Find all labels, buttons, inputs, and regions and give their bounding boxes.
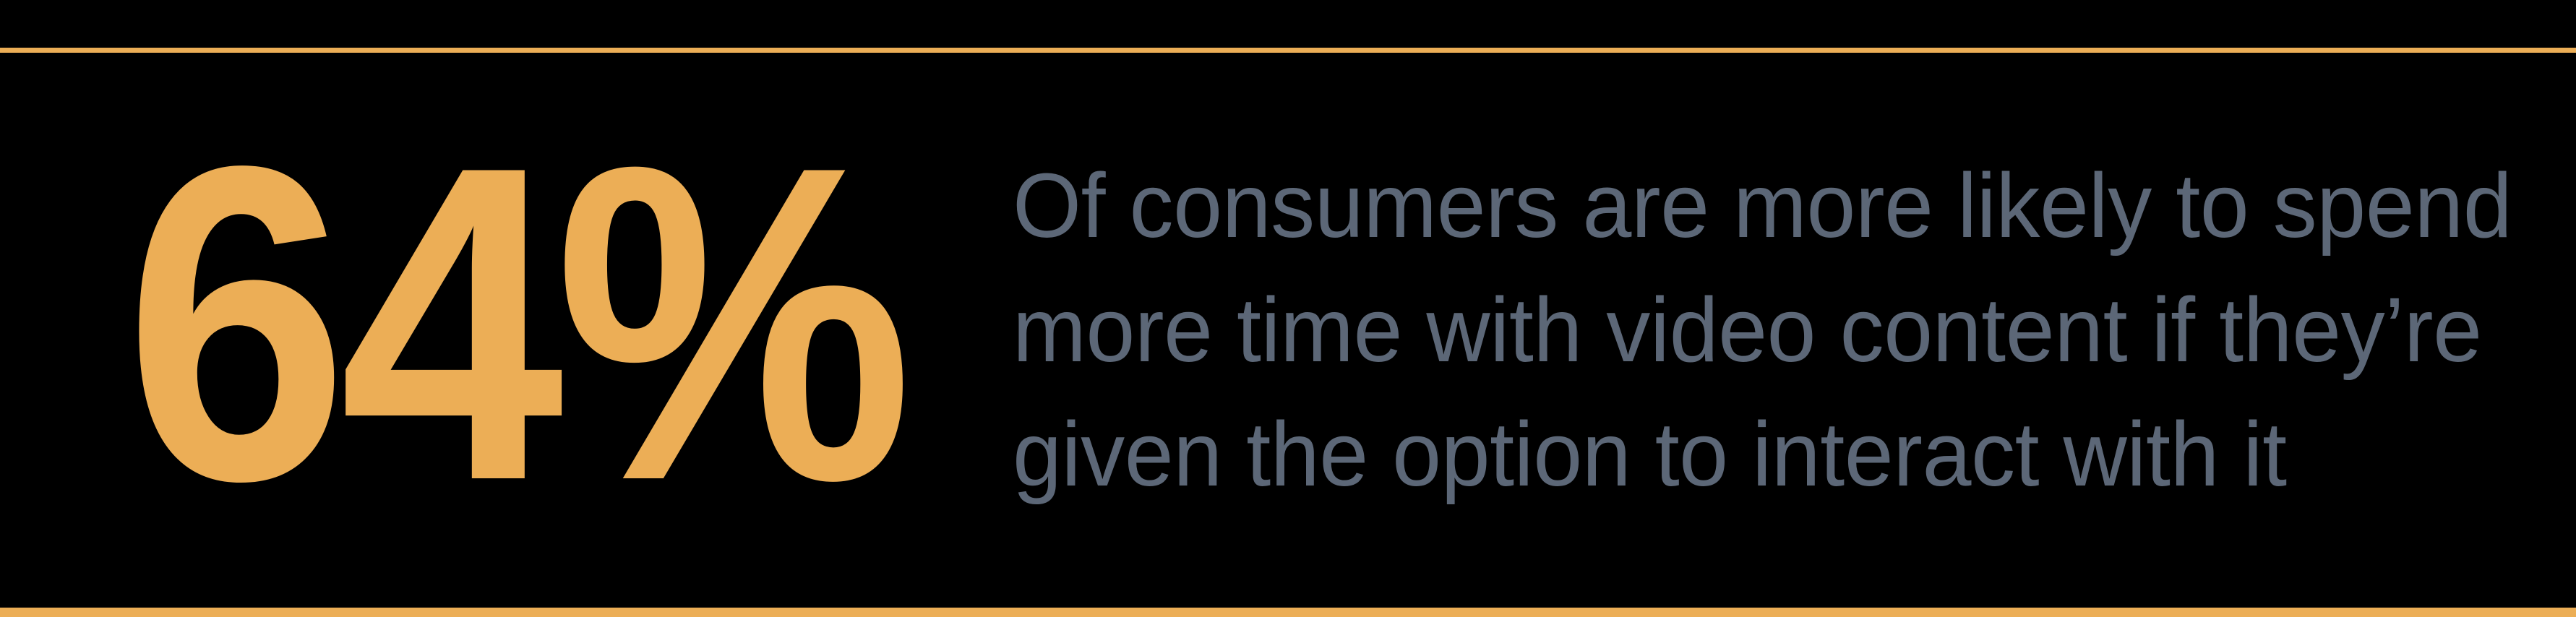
statistic-description: Of consumers are more likely to spend mo… xyxy=(1013,144,2512,517)
description-line-3: given the option to interact with it xyxy=(1013,392,2512,517)
description-line-2: more time with video content if they’re xyxy=(1013,268,2512,392)
bottom-accent-rule xyxy=(0,608,2576,617)
statistic-banner: 64% Of consumers are more likely to spen… xyxy=(0,0,2576,617)
banner-content: 64% Of consumers are more likely to spen… xyxy=(0,53,2576,608)
statistic-value: 64% xyxy=(124,158,904,490)
description-line-1: Of consumers are more likely to spend xyxy=(1013,144,2512,268)
top-accent-rule xyxy=(0,48,2576,53)
